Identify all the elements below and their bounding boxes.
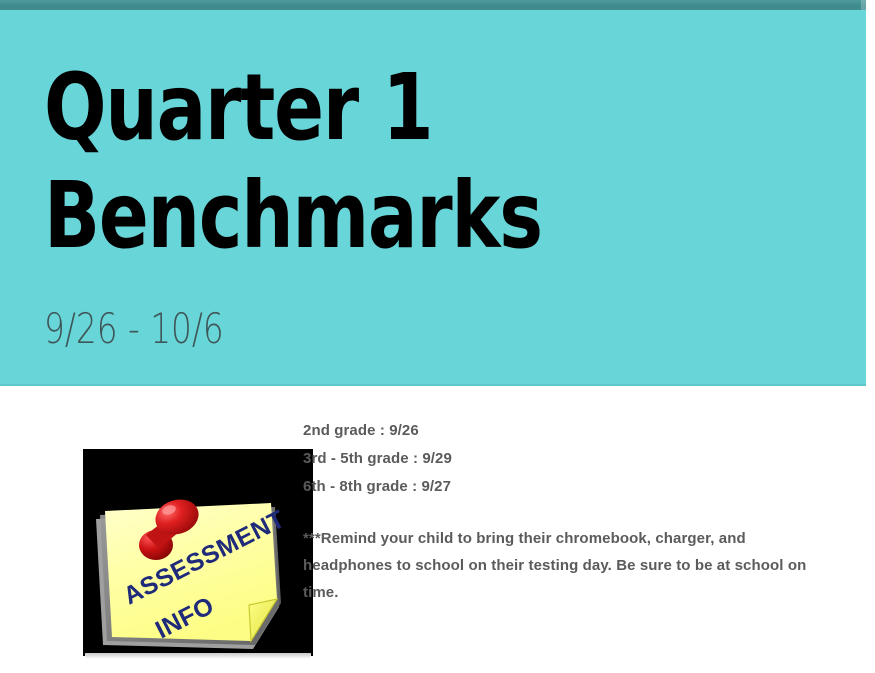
content-area: ASSESSMENT INFO 2nd grade : 9/26 3rd - 5… <box>0 388 866 673</box>
benchmark-schedule-list: 2nd grade : 9/26 3rd - 5th grade : 9/29 … <box>303 423 833 495</box>
page-title: Quarter 1 Benchmarks <box>44 54 676 270</box>
sticky-note-illustration: ASSESSMENT INFO <box>83 449 313 656</box>
schedule-item-grade-6-8: 6th - 8th grade : 9/27 <box>303 479 833 495</box>
assessment-info-image-canvas: ASSESSMENT INFO <box>83 449 313 656</box>
schedule-item-grade-3-5: 3rd - 5th grade : 9/29 <box>303 451 833 467</box>
image-drop-shadow <box>85 653 311 659</box>
reminder-paragraph: ***Remind your child to bring their chro… <box>303 525 827 606</box>
assessment-info-image: ASSESSMENT INFO <box>83 449 313 656</box>
assessment-details: 2nd grade : 9/26 3rd - 5th grade : 9/29 … <box>303 423 833 606</box>
schedule-item-grade-2: 2nd grade : 9/26 <box>303 423 833 439</box>
page-subtitle-date-range: 9/26 - 10/6 <box>44 305 224 353</box>
hero-banner: Quarter 1 Benchmarks 9/26 - 10/6 <box>0 10 866 386</box>
